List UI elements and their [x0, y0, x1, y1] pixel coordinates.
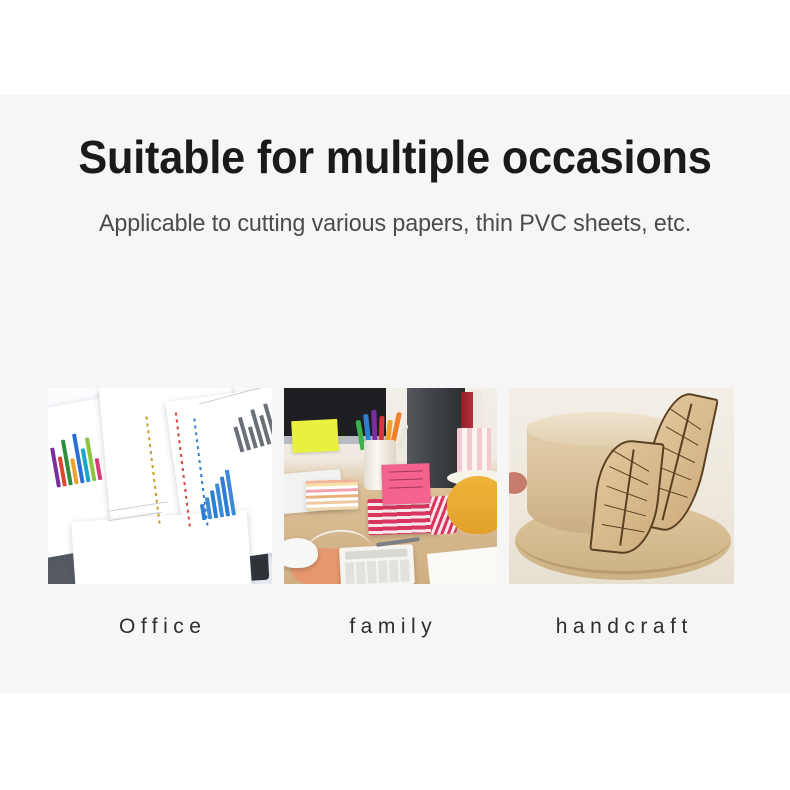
caption-office: Office: [48, 614, 272, 639]
office-photo: [48, 388, 272, 584]
sticky-note-stack: [305, 479, 358, 511]
gallery-item-family[interactable]: [284, 388, 497, 584]
caption-row: Office family handcraft: [48, 614, 734, 639]
pink-message-card: [381, 463, 430, 505]
gallery-item-office[interactable]: [48, 388, 272, 584]
striped-container: [457, 428, 491, 474]
calculator-screen: [345, 548, 407, 559]
scene-gallery: [48, 388, 734, 584]
finger: [509, 472, 527, 494]
loose-paper: [427, 546, 497, 584]
calculator-keys: [345, 559, 410, 584]
paper-sheet: [71, 510, 253, 584]
yellow-mug: [447, 476, 497, 534]
caption-family: family: [284, 614, 497, 639]
calculator: [339, 544, 415, 584]
promo-page: Suitable for multiple occasions Applicab…: [0, 0, 790, 790]
page-subtitle: Applicable to cutting various papers, th…: [12, 210, 778, 239]
computer-mouse: [284, 538, 318, 568]
header-block: Suitable for multiple occasions Applicab…: [0, 132, 790, 238]
handcraft-photo: [509, 388, 734, 584]
gallery-item-handcraft[interactable]: [509, 388, 734, 584]
sticky-note-green: [291, 419, 339, 453]
page-title: Suitable for multiple occasions: [24, 132, 767, 184]
printed-color-bar-chart: [48, 426, 102, 487]
leaf-midrib: [619, 449, 634, 545]
caption-handcraft: handcraft: [509, 614, 734, 639]
family-photo: [284, 388, 497, 584]
